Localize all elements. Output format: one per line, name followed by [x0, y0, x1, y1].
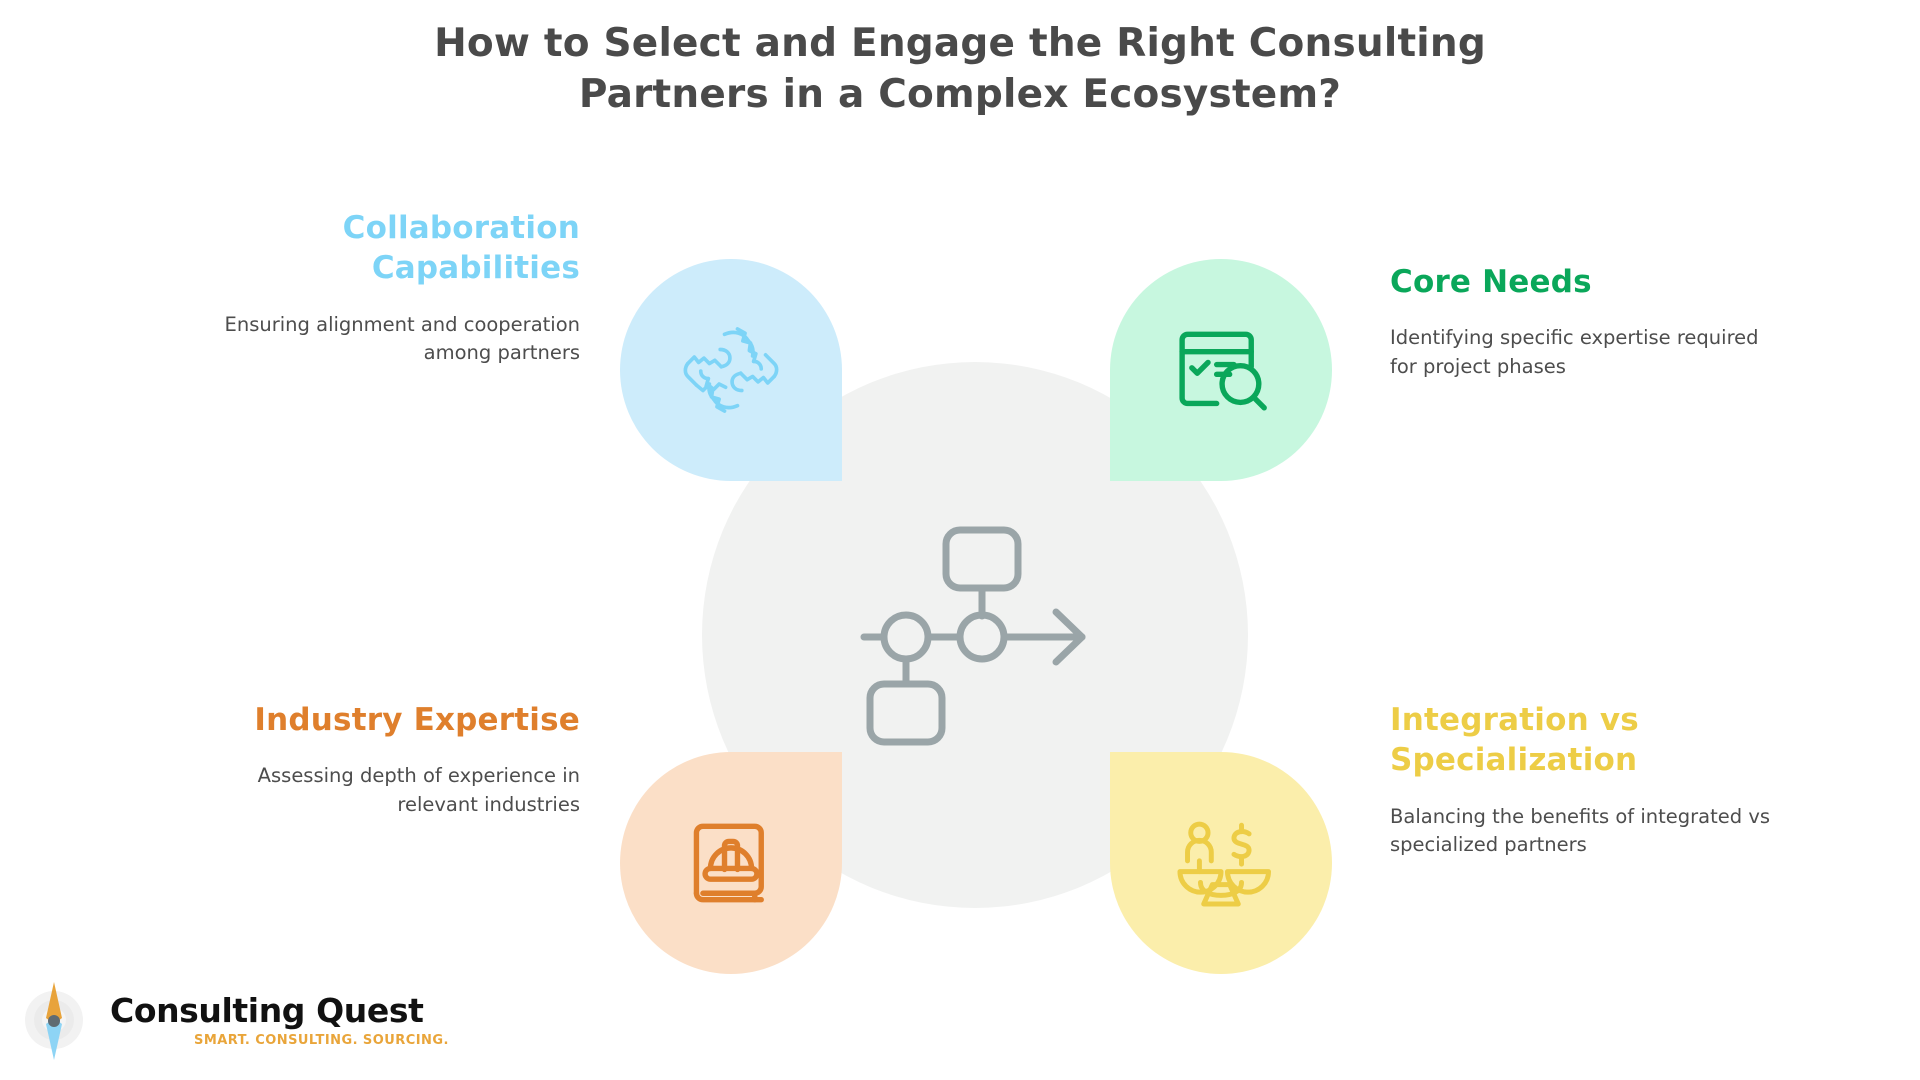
compass-needle-icon	[24, 980, 96, 1062]
book-hardhat-icon	[677, 809, 785, 917]
heading-collaboration: Collaboration Capabilities	[180, 208, 580, 289]
description-industry-expertise: Assessing depth of experience in relevan…	[180, 762, 580, 819]
text-block-core-needs: Core Needs Identifying specific expertis…	[1390, 262, 1790, 382]
heading-industry-expertise: Industry Expertise	[180, 700, 580, 740]
logo-name: Consulting Quest	[110, 994, 449, 1029]
network-flowchart-icon	[850, 520, 1100, 750]
checklist-magnifier-icon	[1167, 316, 1275, 424]
badge-integration-specialization[interactable]	[1110, 752, 1332, 974]
badge-core-needs[interactable]	[1110, 259, 1332, 481]
page-title-line-2: Partners in a Complex Ecosystem?	[579, 72, 1341, 117]
description-collaboration: Ensuring alignment and cooperation among…	[180, 311, 580, 368]
logo-tagline: SMART. CONSULTING. SOURCING.	[194, 1033, 449, 1048]
page-title-line-1: How to Select and Engage the Right Consu…	[434, 21, 1486, 66]
page-title: How to Select and Engage the Right Consu…	[310, 18, 1610, 121]
text-block-collaboration: Collaboration Capabilities Ensuring alig…	[180, 208, 580, 368]
heading-integration-specialization: Integration vs Specialization	[1390, 700, 1790, 781]
infographic-canvas: How to Select and Engage the Right Consu…	[0, 0, 1920, 1080]
badge-collaboration[interactable]	[620, 259, 842, 481]
text-block-integration-specialization: Integration vs Specialization Balancing …	[1390, 700, 1790, 860]
description-core-needs: Identifying specific expertise required …	[1390, 324, 1790, 381]
balance-scale-person-dollar-icon	[1167, 809, 1275, 917]
brand-logo[interactable]: Consulting Quest SMART. CONSULTING. SOUR…	[24, 980, 449, 1062]
text-block-industry-expertise: Industry Expertise Assessing depth of ex…	[180, 700, 580, 820]
badge-industry-expertise[interactable]	[620, 752, 842, 974]
logo-text-group: Consulting Quest SMART. CONSULTING. SOUR…	[110, 994, 449, 1049]
heading-core-needs: Core Needs	[1390, 262, 1790, 302]
four-hands-teamwork-icon	[677, 316, 785, 424]
description-integration-specialization: Balancing the benefits of integrated vs …	[1390, 803, 1790, 860]
